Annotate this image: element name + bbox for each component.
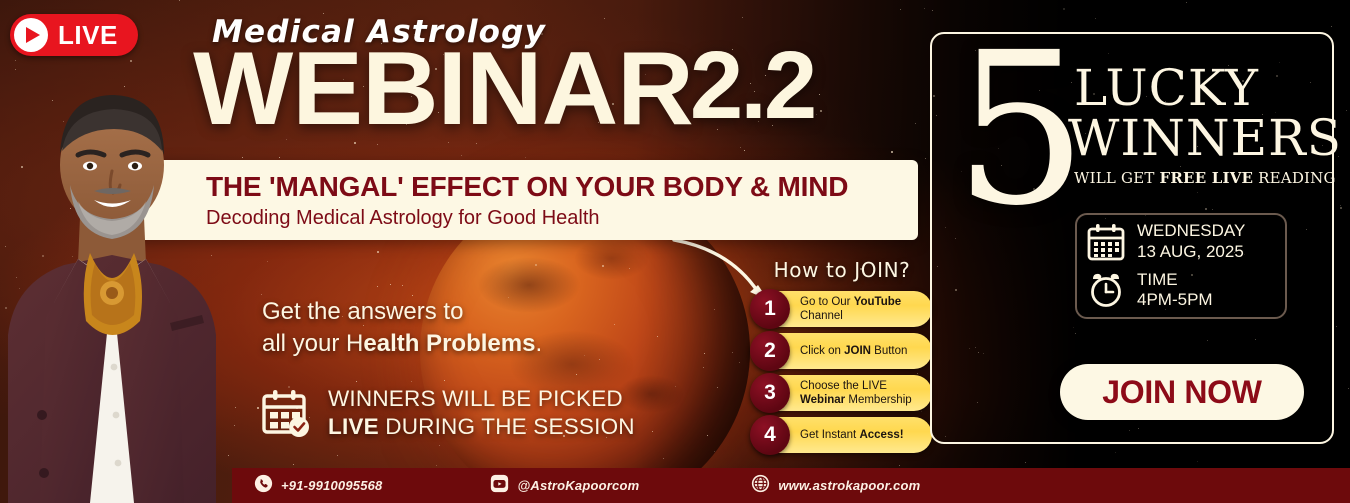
how-to-join-title: How to JOIN? <box>752 258 932 282</box>
winners-text: WINNERS WILL BE PICKED LIVE DURING THE S… <box>328 385 635 441</box>
phone-icon <box>254 474 273 498</box>
winners-line-2: LIVE DURING THE SESSION <box>328 413 635 441</box>
headline-block: Medical Astrology WEBINAR 2.2 <box>198 14 814 138</box>
join-step-text: Get Instant Access! <box>800 428 912 442</box>
prize-winners-label: WINNERS <box>1068 114 1326 163</box>
headline-main: WEBINAR <box>193 42 693 138</box>
prize-subtext-post: READING <box>1253 169 1336 187</box>
schedule-day: WEDNESDAY <box>1137 221 1245 241</box>
join-step[interactable]: 3 Choose the LIVE Webinar Membership <box>752 375 932 411</box>
schedule-box: WEDNESDAY 13 AUG, 2025 TIME 4PM-5PM <box>1075 213 1287 319</box>
prize-panel: 5 LUCKY WINNERS WILL GET FREE LIVE READI… <box>930 32 1334 444</box>
contact-footer: +91-9910095568 @AstroKapoorcom www.astro… <box>232 468 1350 503</box>
prize-subtext-pre: WILL GET <box>1074 169 1160 187</box>
webinar-promo-banner: LIVE <box>0 0 1350 503</box>
footer-contact-item[interactable]: +91-9910095568 <box>254 474 382 498</box>
answers-plain: all your H <box>262 330 363 357</box>
winners-line-1: WINNERS WILL BE PICKED <box>328 385 635 413</box>
footer-contact-text: @AstroKapoorcom <box>517 478 639 493</box>
youtube-icon <box>490 474 509 498</box>
schedule-time-text: TIME 4PM-5PM <box>1137 270 1213 311</box>
globe-icon <box>751 474 770 498</box>
schedule-time-label: TIME <box>1137 270 1213 290</box>
topic-title: THE 'MANGAL' EFFECT ON YOUR BODY & MIND <box>206 171 918 203</box>
alarm-clock-icon <box>1087 271 1125 309</box>
join-step-number: 1 <box>750 289 790 329</box>
schedule-time-row: TIME 4PM-5PM <box>1087 270 1285 311</box>
live-badge-label: LIVE <box>58 20 118 51</box>
join-step[interactable]: 4 Get Instant Access! <box>752 417 932 453</box>
winners-notice: WINNERS WILL BE PICKED LIVE DURING THE S… <box>262 385 635 441</box>
calendar-icon <box>1087 223 1125 261</box>
calendar-check-icon <box>262 389 312 437</box>
body-text-block: Get the answers to all your Health Probl… <box>262 296 635 441</box>
join-step[interactable]: 1 Go to Our YouTube Channel <box>752 291 932 327</box>
join-step-number: 4 <box>750 415 790 455</box>
topic-subtitle: Decoding Medical Astrology for Good Heal… <box>206 207 918 230</box>
topic-banner: THE 'MANGAL' EFFECT ON YOUR BODY & MIND … <box>116 160 918 240</box>
schedule-date-text: WEDNESDAY 13 AUG, 2025 <box>1137 221 1245 262</box>
headline-version: 2.2 <box>690 42 814 130</box>
answers-period: . <box>535 330 542 357</box>
join-now-label: JOIN NOW <box>1102 374 1261 411</box>
footer-contact-item[interactable]: www.astrokapoor.com <box>751 474 920 498</box>
winners-live-bold: LIVE <box>328 414 379 439</box>
join-step[interactable]: 2 Click on JOIN Button <box>752 333 932 369</box>
join-step-text: Choose the LIVE Webinar Membership <box>800 379 932 407</box>
answers-line-1: Get the answers to <box>262 296 635 328</box>
prize-subtext-bold: FREE LIVE <box>1160 169 1254 187</box>
schedule-time-value: 4PM-5PM <box>1137 290 1213 310</box>
footer-contact-text: +91-9910095568 <box>281 478 382 493</box>
footer-contact-text: www.astrokapoor.com <box>778 478 920 493</box>
schedule-date: 13 AUG, 2025 <box>1137 242 1245 262</box>
prize-text-block: LUCKY WINNERS WILL GET FREE LIVE READING <box>1074 64 1326 187</box>
join-step-number: 3 <box>750 373 790 413</box>
join-step-text: Click on JOIN Button <box>800 344 915 358</box>
footer-contact-item[interactable]: @AstroKapoorcom <box>490 474 639 498</box>
join-now-button[interactable]: JOIN NOW <box>1060 364 1304 420</box>
live-badge: LIVE <box>10 14 138 56</box>
how-to-join-block: How to JOIN? 1 Go to Our YouTube Channel… <box>752 258 932 459</box>
join-step-number: 2 <box>750 331 790 371</box>
answers-line-2: all your Health Problems. <box>262 328 635 360</box>
schedule-date-row: WEDNESDAY 13 AUG, 2025 <box>1087 221 1285 262</box>
answers-bold: ealth Problems <box>363 330 535 357</box>
join-step-text: Go to Our YouTube Channel <box>800 295 932 323</box>
join-steps-list: 1 Go to Our YouTube Channel 2 Click on J… <box>752 291 932 453</box>
winners-line-2-rest: DURING THE SESSION <box>379 414 635 439</box>
play-icon <box>14 18 48 52</box>
presenter-photo <box>0 67 230 503</box>
prize-subtext: WILL GET FREE LIVE READING <box>1074 169 1326 187</box>
prize-lucky-label: LUCKY <box>1074 64 1326 112</box>
